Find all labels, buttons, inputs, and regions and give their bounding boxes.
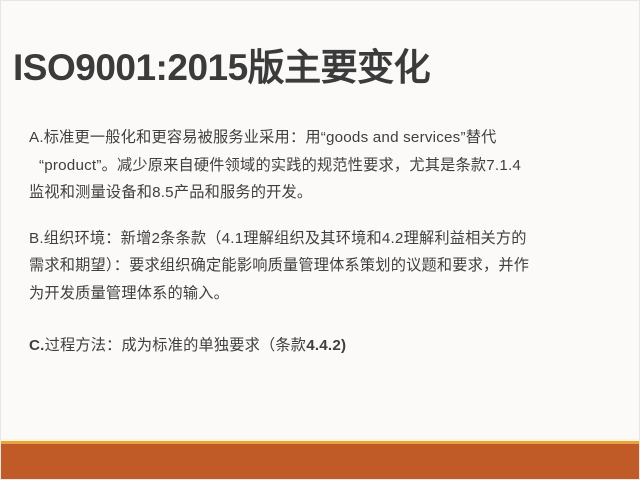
paragraph-a: A.标准更一般化和更容易被服务业采用：用“goods and services”… — [29, 124, 619, 207]
paragraph-c-prefix: C. — [29, 337, 45, 354]
footer-orange-bar — [1, 444, 639, 479]
paragraph-c-middle: 过程方法：成为标准的单独要求（条款 — [45, 337, 307, 354]
paragraph-b-line-2: 需求和期望）：要求组织确定能影响质量管理体系策划的议题和要求，并作 — [29, 252, 619, 280]
paragraph-b: B.组织环境：新增2条条款（4.1理解组织及其环境和4.2理解利益相关方的 需求… — [29, 225, 619, 308]
paragraph-a-line-2: “product”。减少原来自硬件领域的实践的规范性要求，尤其是条款7.1.4 — [29, 152, 619, 180]
paragraph-a-line-3: 监视和测量设备和8.5产品和服务的开发。 — [29, 179, 619, 207]
paragraph-c-clause-number: 4.4.2) — [306, 337, 346, 354]
slide-title: ISO9001:2015版主要变化 — [13, 46, 430, 90]
slide-body: A.标准更一般化和更容易被服务业采用：用“goods and services”… — [29, 124, 619, 359]
paragraph-b-line-1: B.组织环境：新增2条条款（4.1理解组织及其环境和4.2理解利益相关方的 — [29, 225, 619, 253]
paragraph-a-line-1: A.标准更一般化和更容易被服务业采用：用“goods and services”… — [29, 124, 619, 152]
presentation-slide: ISO9001:2015版主要变化 A.标准更一般化和更容易被服务业采用：用“g… — [0, 0, 640, 480]
paragraph-c-line-1: C.过程方法：成为标准的单独要求（条款4.4.2) — [29, 332, 619, 360]
paragraph-b-line-3: 为开发质量管理体系的输入。 — [29, 280, 619, 308]
paragraph-c: C.过程方法：成为标准的单独要求（条款4.4.2) — [29, 332, 619, 360]
